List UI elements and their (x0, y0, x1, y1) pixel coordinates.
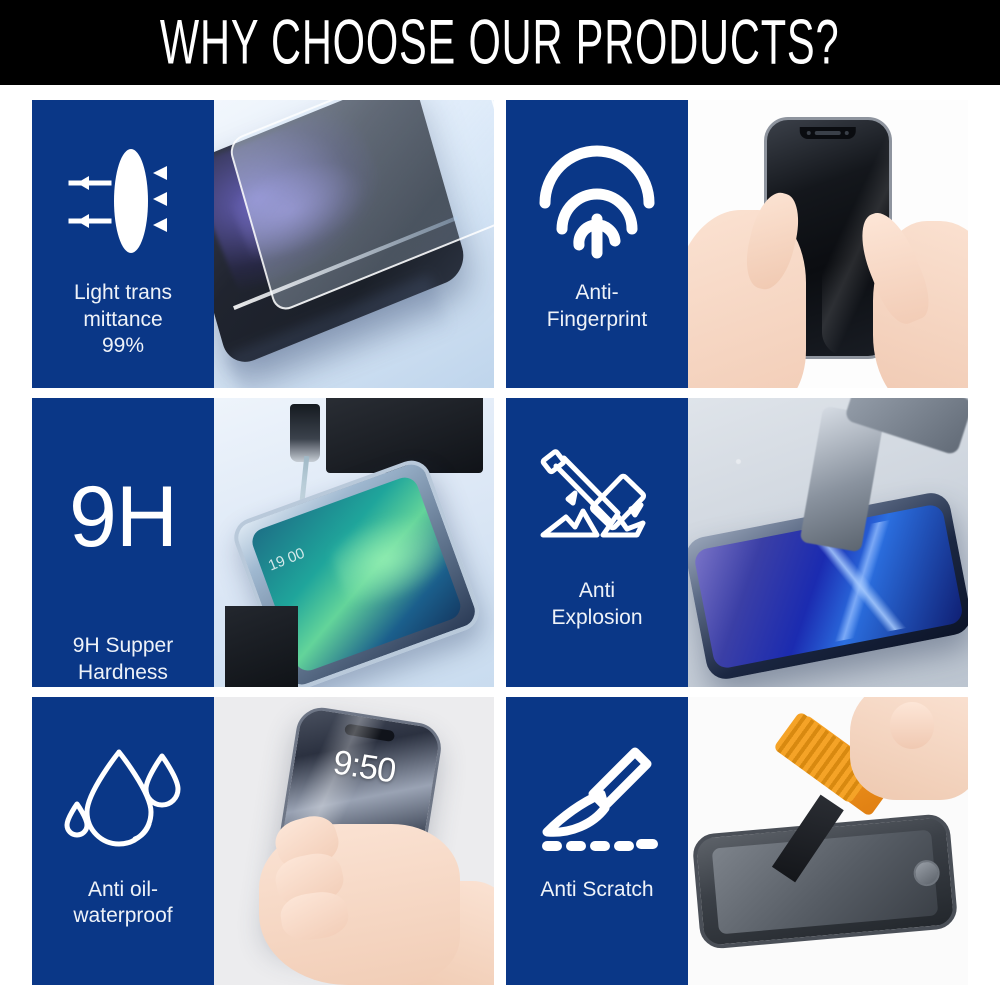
feature-card-anti-explosion[interactable]: Anti Explosion (506, 398, 968, 686)
machine-stand (225, 606, 298, 687)
feature-panel: Anti- Fingerprint (506, 100, 688, 388)
feature-photo-hammer-on-phone (688, 398, 968, 686)
blade-scratch-icon (531, 723, 663, 873)
feature-caption: Anti Scratch (532, 877, 661, 904)
feature-panel: Anti Scratch (506, 697, 688, 985)
feature-caption: Anti oil- waterproof (65, 877, 180, 930)
feature-caption: Anti- Fingerprint (539, 280, 655, 333)
feature-photo-phone-with-glass (214, 100, 494, 388)
feature-panel: Anti Explosion (506, 398, 688, 686)
feature-caption: Anti Explosion (543, 578, 650, 631)
feature-photo-cutter-scratching-phone (688, 697, 968, 985)
feature-card-hardness[interactable]: 9H 9H Supper Hardness 19 00 (32, 398, 494, 686)
feature-card-anti-fingerprint[interactable]: Anti- Fingerprint (506, 100, 968, 388)
feature-card-light-transmittance[interactable]: Light trans mittance 99% (32, 100, 494, 388)
page-title: WHY CHOOSE OUR PRODUCTS? (160, 6, 839, 79)
feature-panel: 9H 9H Supper Hardness (32, 398, 214, 686)
hammer-breaking-surface-icon (531, 424, 663, 574)
feature-photo-hand-holding-phone: 9:50 (214, 697, 494, 985)
feature-caption: 9H Supper Hardness (65, 633, 181, 686)
drill-chuck (290, 404, 321, 462)
phone-screen (712, 829, 938, 934)
feature-photo-hardness-test: 19 00 (214, 398, 494, 686)
page-header: WHY CHOOSE OUR PRODUCTS? (0, 0, 1000, 85)
feature-panel: Light trans mittance 99% (32, 100, 214, 388)
home-button (913, 858, 941, 886)
feature-card-anti-scratch[interactable]: Anti Scratch (506, 697, 968, 985)
feature-photo-hands-touching-phone (688, 100, 968, 388)
hardness-value: 9H (69, 474, 177, 560)
features-grid: Light trans mittance 99% (32, 100, 968, 985)
feature-card-anti-oil-waterproof[interactable]: Anti oil- waterproof 9:50 (32, 697, 494, 985)
feature-panel: Anti oil- waterproof (32, 697, 214, 985)
lens-light-rays-icon (57, 126, 189, 276)
finger (890, 702, 935, 748)
feature-caption: Light trans mittance 99% (66, 280, 180, 360)
fingerprint-icon (531, 126, 663, 276)
water-droplets-icon (57, 723, 189, 873)
hardness-grade-label: 9H (57, 432, 189, 601)
